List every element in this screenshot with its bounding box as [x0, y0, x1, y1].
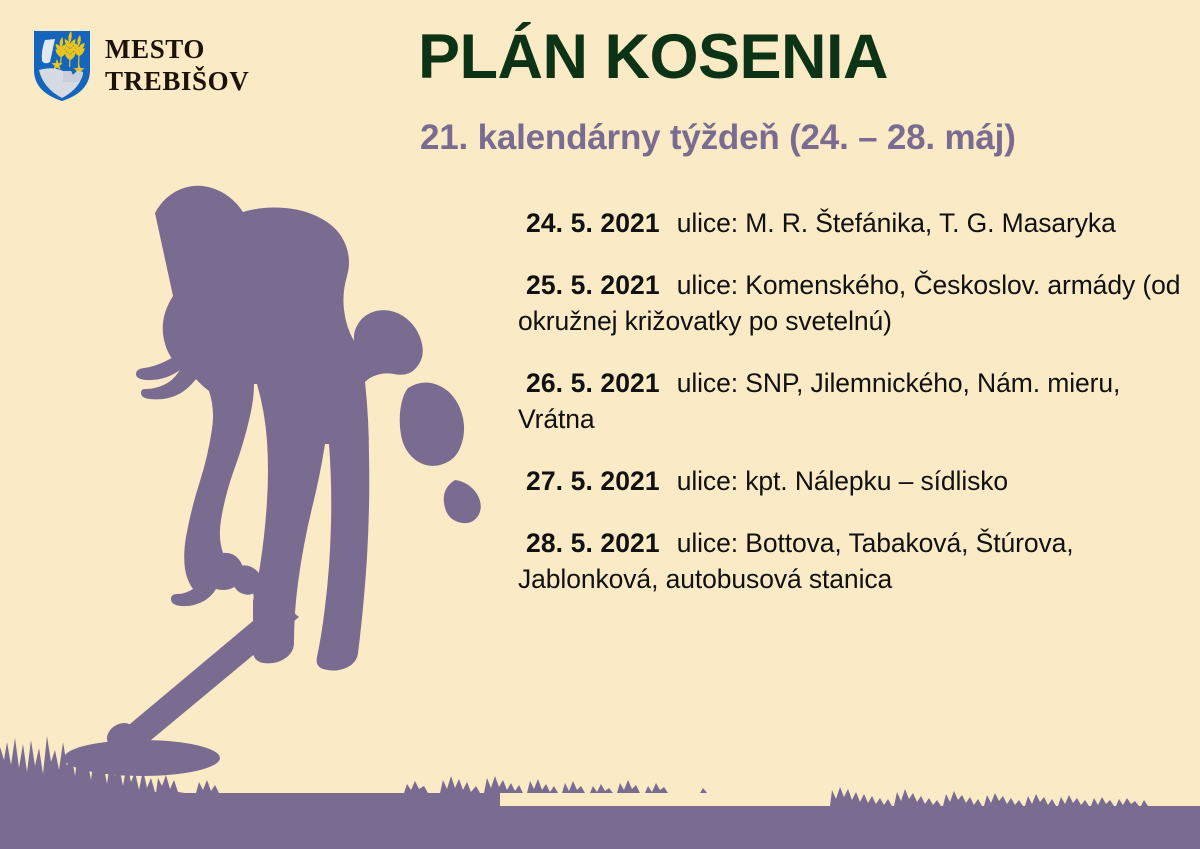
schedule-entry-text: 25. 5. 2021ulice: Komenského, Českoslov.… [518, 267, 1188, 339]
city-logo-text: MESTO TREBIŠOV [105, 34, 249, 98]
schedule-entry-date: 27. 5. 2021 [526, 466, 660, 496]
page-subtitle: 21. kalendárny týždeň (24. – 28. máj) [420, 118, 1180, 158]
schedule-entry: 26. 5. 2021ulice: SNP, Jilemnického, Nám… [518, 365, 1188, 437]
schedule-entry-text: 28. 5. 2021ulice: Bottova, Tabaková, Štú… [518, 525, 1188, 597]
schedule-entry-streets: ulice: M. R. Štefánika, T. G. Masaryka [677, 208, 1116, 238]
schedule-entry: 27. 5. 2021ulice: kpt. Nálepku – sídlisk… [518, 463, 1188, 499]
city-logo: MESTO TREBIŠOV [33, 26, 283, 106]
schedule-entry-date: 25. 5. 2021 [526, 270, 660, 300]
schedule-entry-text: 26. 5. 2021ulice: SNP, Jilemnického, Nám… [518, 365, 1188, 437]
schedule-entry: 28. 5. 2021ulice: Bottova, Tabaková, Štú… [518, 525, 1188, 597]
logo-line-mesto: MESTO [105, 34, 249, 66]
mowing-schedule-list: 24. 5. 2021ulice: M. R. Štefánika, T. G.… [518, 205, 1188, 597]
poster-canvas: MESTO TREBIŠOV PLÁN KOSENIA 21. kalendár… [0, 0, 1200, 849]
trebisov-coat-of-arms-icon [33, 30, 91, 102]
schedule-entry-date: 26. 5. 2021 [526, 368, 660, 398]
page-title: PLÁN KOSENIA [418, 24, 1178, 90]
logo-line-trebisov: TREBIŠOV [105, 66, 249, 98]
schedule-entry-text: 24. 5. 2021ulice: M. R. Štefánika, T. G.… [518, 205, 1188, 241]
schedule-entry: 25. 5. 2021ulice: Komenského, Českoslov.… [518, 267, 1188, 339]
schedule-entry-date: 24. 5. 2021 [526, 208, 660, 238]
schedule-entry-date: 28. 5. 2021 [526, 528, 660, 558]
schedule-entry-text: 27. 5. 2021ulice: kpt. Nálepku – sídlisk… [518, 463, 1188, 499]
schedule-entry-streets: ulice: kpt. Nálepku – sídlisko [677, 466, 1008, 496]
schedule-entry: 24. 5. 2021ulice: M. R. Štefánika, T. G.… [518, 205, 1188, 241]
